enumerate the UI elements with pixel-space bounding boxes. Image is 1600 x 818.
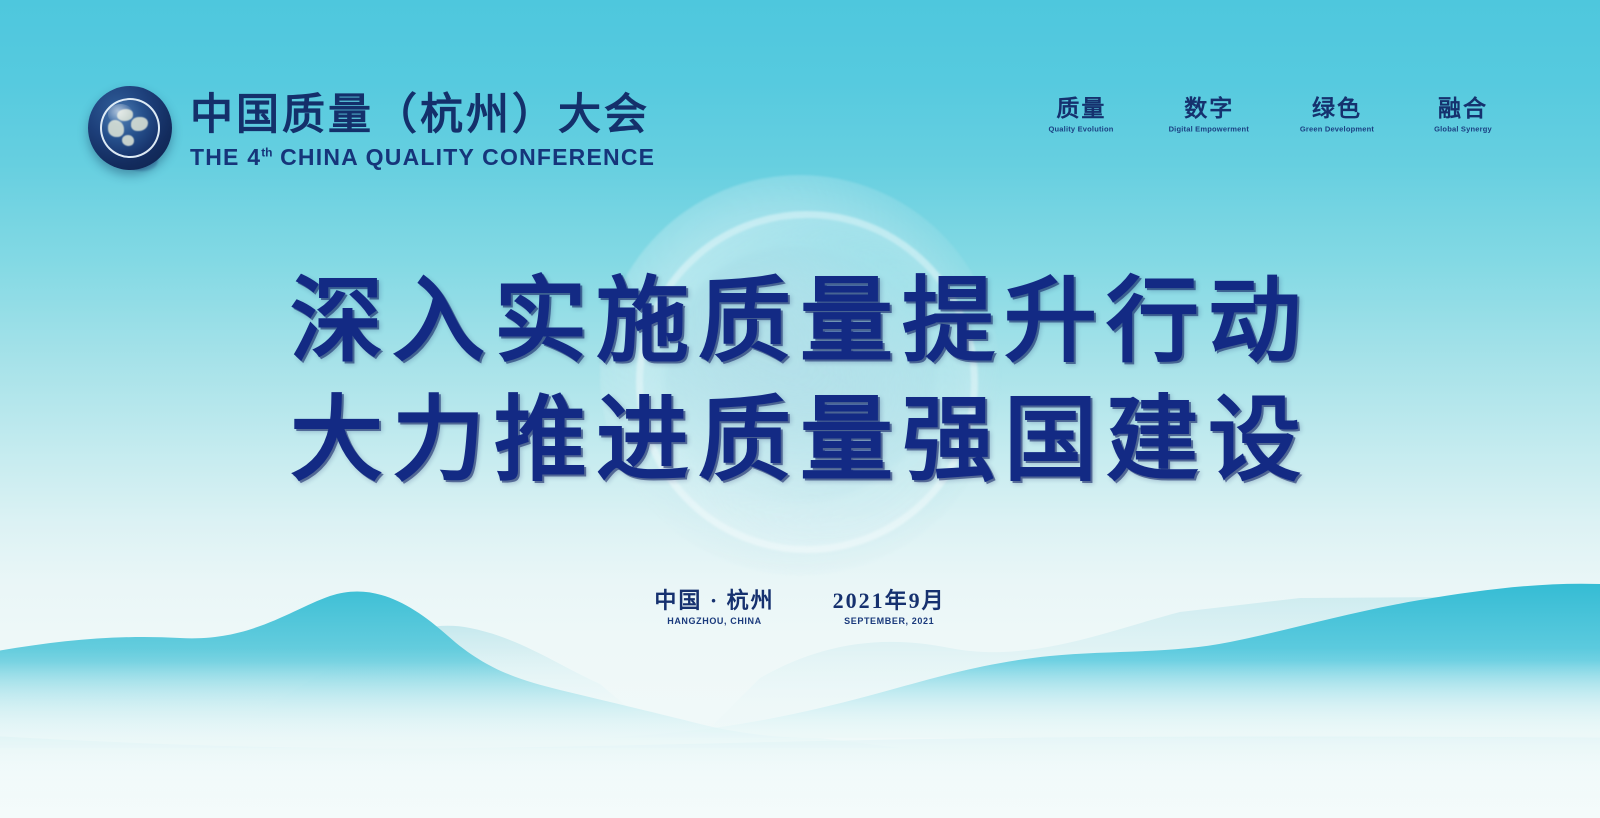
mountain-svg <box>0 538 1600 818</box>
keyword-en: Digital Empowerment <box>1169 125 1249 133</box>
conference-title-en-suffix: CHINA QUALITY CONFERENCE <box>273 144 656 170</box>
meta-date-en: SEPTEMBER, 2021 <box>833 616 946 626</box>
keyword-cn: 数字 <box>1166 96 1252 121</box>
keyword-item-synergy: 融合 Global Synergy <box>1422 96 1504 134</box>
mist-layer-near <box>0 748 1600 818</box>
globe-gloss-highlight <box>108 104 134 123</box>
keyword-cn: 融合 <box>1422 96 1504 121</box>
meta-location-en: HANGZHOU, CHINA <box>654 616 774 626</box>
conference-title-group: 中国质量（杭州）大会 THE 4th CHINA QUALITY CONFERE… <box>190 93 655 171</box>
headline-line-2: 大力推进质量强国建设 <box>0 381 1600 500</box>
keyword-item-green: 绿色 Green Development <box>1296 96 1378 134</box>
globe-logo-icon <box>84 84 176 180</box>
conference-title-en-prefix: THE 4 <box>190 144 261 170</box>
meta-date-cn: 2021年9月 <box>833 588 946 613</box>
poster-meta: 中国 · 杭州 HANGZHOU, CHINA 2021年9月 SEPTEMBE… <box>0 588 1600 626</box>
poster-canvas: 中国质量（杭州）大会 THE 4th CHINA QUALITY CONFERE… <box>0 0 1600 818</box>
headline-line-1: 深入实施质量提升行动 <box>0 262 1600 381</box>
meta-item-location: 中国 · 杭州 HANGZHOU, CHINA <box>654 588 774 626</box>
globe-watermark-icon <box>600 175 1000 575</box>
keyword-en: Global Synergy <box>1424 125 1501 133</box>
globe-continent-shape <box>122 135 134 146</box>
poster-header: 中国质量（杭州）大会 THE 4th CHINA QUALITY CONFERE… <box>0 0 1600 200</box>
conference-title-cn: 中国质量（杭州）大会 <box>190 93 655 139</box>
keyword-cn: 质量 <box>1040 96 1122 121</box>
keyword-en: Green Development <box>1298 125 1375 133</box>
globe-logo-sphere <box>100 98 160 158</box>
keyword-item-digital: 数字 Digital Empowerment <box>1166 96 1252 134</box>
globe-watermark-landmass <box>664 247 936 503</box>
mountain-landscape-illustration <box>0 538 1600 818</box>
water-reflection <box>0 734 1600 788</box>
meta-item-date: 2021年9月 SEPTEMBER, 2021 <box>833 588 946 626</box>
meta-location-cn: 中国 · 杭州 <box>654 588 774 613</box>
keyword-cn: 绿色 <box>1296 96 1378 121</box>
mountain-far-left <box>250 626 640 718</box>
keyword-en: Quality Evolution <box>1043 125 1120 133</box>
conference-logo-block: 中国质量（杭州）大会 THE 4th CHINA QUALITY CONFERE… <box>84 84 655 180</box>
conference-title-en: THE 4th CHINA QUALITY CONFERENCE <box>190 144 655 171</box>
globe-continent-shape <box>131 117 148 132</box>
mist-layer <box>0 648 1600 818</box>
poster-headline: 深入实施质量提升行动 大力推进质量强国建设 <box>0 262 1600 500</box>
keyword-item-quality: 质量 Quality Evolution <box>1040 96 1122 134</box>
keyword-list: 质量 Quality Evolution 数字 Digital Empowerm… <box>1040 96 1504 134</box>
conference-title-en-ordinal: th <box>261 146 272 160</box>
